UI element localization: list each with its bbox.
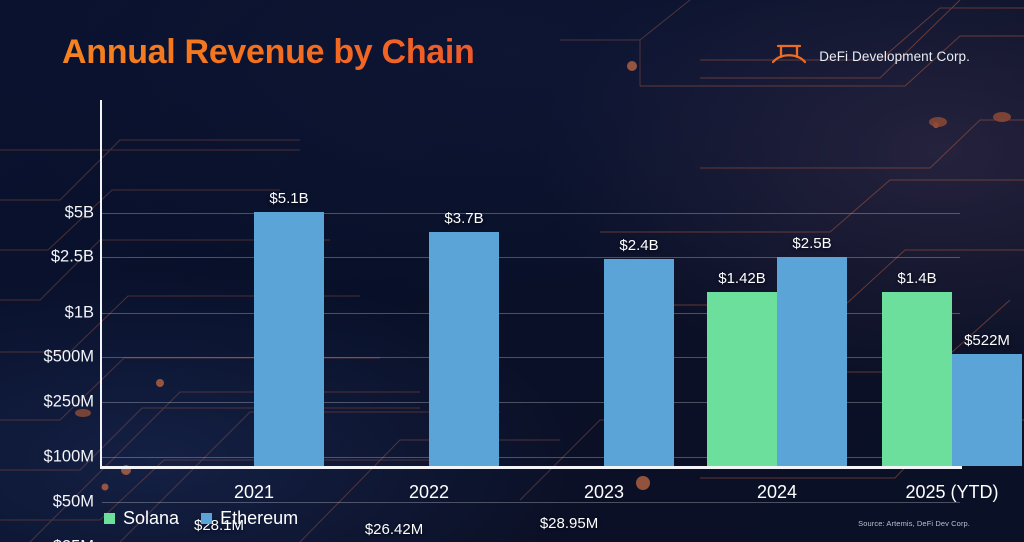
legend-label: Ethereum bbox=[220, 508, 298, 529]
legend-item-ethereum[interactable]: Ethereum bbox=[201, 508, 298, 529]
y-axis-tick-label: $500M bbox=[6, 348, 94, 367]
brand-name: DeFi Development Corp. bbox=[819, 49, 970, 64]
bar-value-label: $1.4B bbox=[897, 270, 936, 287]
bar-value-label: $2.5B bbox=[792, 235, 831, 252]
x-axis-tick-label: 2023 bbox=[584, 482, 624, 503]
legend-item-solana[interactable]: Solana bbox=[104, 508, 179, 529]
y-axis-tick-label: $5B bbox=[6, 204, 94, 223]
x-axis-tick-label: 2022 bbox=[409, 482, 449, 503]
page-title: Annual Revenue by Chain bbox=[62, 33, 475, 72]
bar-value-label: $522M bbox=[964, 332, 1010, 349]
bar-ethereum-2022[interactable] bbox=[429, 232, 499, 466]
legend-swatch-solana bbox=[104, 513, 115, 524]
x-axis-tick-label: 2021 bbox=[234, 482, 274, 503]
bridge-logo-icon bbox=[772, 42, 806, 71]
x-axis-line bbox=[100, 466, 962, 469]
y-axis-line bbox=[100, 100, 102, 466]
bridge-logo-svg bbox=[772, 42, 806, 66]
legend-swatch-ethereum bbox=[201, 513, 212, 524]
bar-ethereum-2023[interactable] bbox=[604, 259, 674, 466]
gridline bbox=[102, 213, 960, 214]
x-axis-tick-label: 2025 (YTD) bbox=[905, 482, 998, 503]
y-axis-tick-label: $250M bbox=[6, 393, 94, 412]
bar-value-label: $2.4B bbox=[619, 237, 658, 254]
bar-value-label: $5.1B bbox=[269, 190, 308, 207]
x-axis-tick-label: 2024 bbox=[757, 482, 797, 503]
gridline bbox=[102, 502, 960, 503]
legend-label: Solana bbox=[123, 508, 179, 529]
bar-solana-2025-ytd-[interactable] bbox=[882, 292, 952, 466]
bar-value-label: $26.42M bbox=[365, 521, 423, 538]
brand-lockup: DeFi Development Corp. bbox=[772, 42, 970, 71]
bar-ethereum-2024[interactable] bbox=[777, 257, 847, 466]
bar-ethereum-2025-ytd-[interactable] bbox=[952, 354, 1022, 466]
y-axis-tick-label: $1B bbox=[6, 304, 94, 323]
bar-ethereum-2021[interactable] bbox=[254, 212, 324, 466]
legend: SolanaEthereum bbox=[104, 508, 298, 529]
bar-value-label: $1.42B bbox=[718, 270, 766, 287]
y-axis-tick-label: $50M bbox=[6, 493, 94, 512]
bar-solana-2024[interactable] bbox=[707, 292, 777, 466]
plot-area: $25M$50M$100M$250M$500M$1B$2.5B$5B $28.1… bbox=[102, 100, 960, 466]
y-axis-tick-label: $25M bbox=[6, 538, 94, 542]
chart-canvas: Annual Revenue by Chain DeFi Development… bbox=[0, 0, 1024, 542]
y-axis-tick-label: $100M bbox=[6, 448, 94, 467]
bar-value-label: $28.95M bbox=[540, 515, 598, 532]
source-note: Source: Artemis, DeFi Dev Corp. bbox=[858, 519, 970, 528]
y-axis-tick-label: $2.5B bbox=[6, 248, 94, 267]
bar-value-label: $3.7B bbox=[444, 210, 483, 227]
